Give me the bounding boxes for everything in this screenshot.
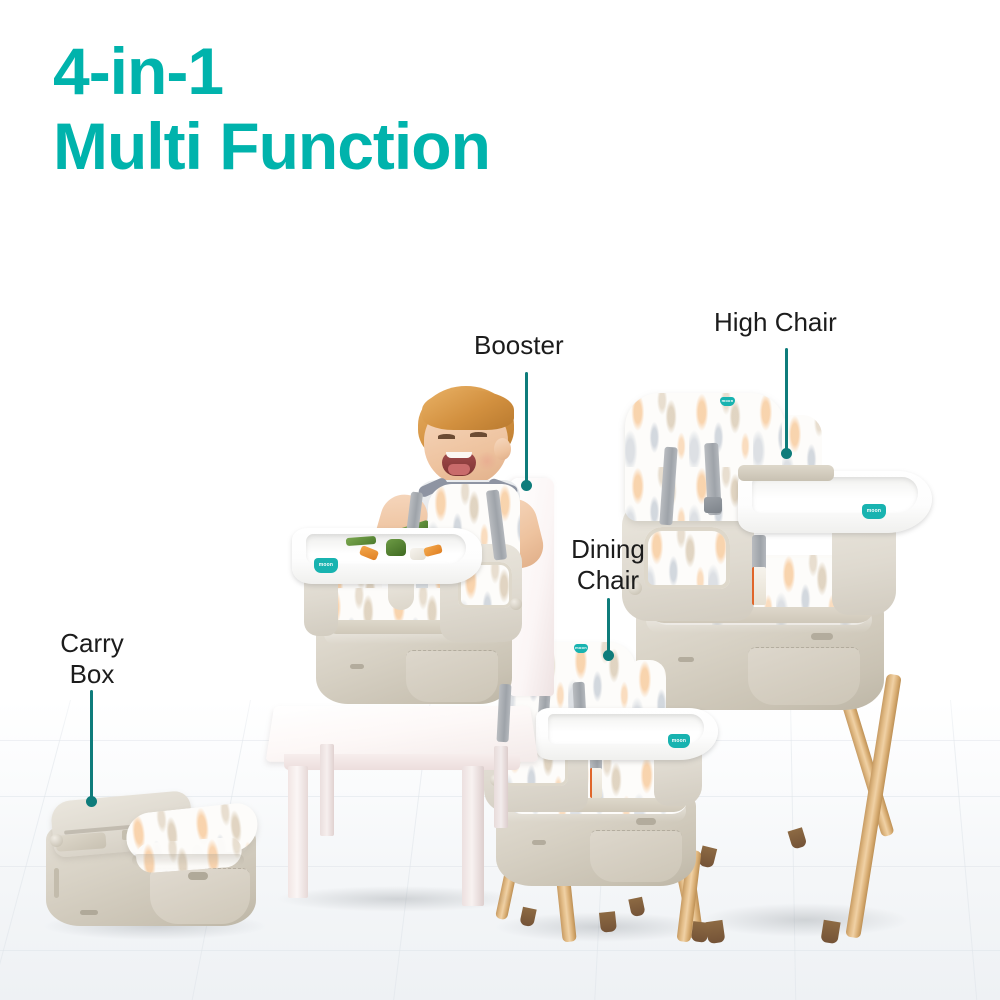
leader-line-booster — [525, 372, 528, 484]
callout-carry-box: Carry Box — [40, 628, 144, 690]
leader-dot-high-chair — [781, 448, 792, 459]
callout-high-chair: High Chair — [714, 307, 837, 338]
carry-box-handle-slot — [188, 872, 208, 880]
callout-dining-chair-line-2: Chair — [552, 565, 664, 596]
carry-box-hinge-knob — [50, 834, 63, 847]
title-line-1: 4-in-1 — [53, 34, 223, 108]
carry-box-vent-slot — [80, 910, 98, 915]
booster-side-pivot-right — [510, 598, 522, 610]
high-chair-tray-well — [752, 477, 918, 513]
dining-chair-base-vent — [636, 818, 656, 825]
baby-teeth — [446, 452, 472, 458]
booster-base-door — [406, 650, 498, 702]
tray-food-broccoli-floret — [386, 539, 406, 556]
baby-hair-fringe — [422, 390, 514, 430]
high-chair-tray-arm — [738, 465, 834, 481]
high-chair-base-vent — [811, 633, 833, 640]
booster-tray-brand-tag: moon — [314, 558, 338, 573]
callout-dining-chair-line-1: Dining — [552, 534, 664, 565]
leader-line-carry-box — [90, 690, 93, 802]
carry-box-side-rib — [54, 868, 59, 898]
table-leg-front-left — [288, 766, 308, 898]
table-leg-rear-left — [320, 744, 334, 836]
dining-chair-leg-tip-front-left — [599, 911, 617, 933]
dining-chair-leg-tip-front-right — [691, 921, 709, 943]
baby-tongue — [448, 464, 470, 475]
leader-dot-booster — [521, 480, 532, 491]
high-chair-floor-shadow — [700, 903, 910, 937]
high-chair-brand-tag: moon — [720, 397, 735, 406]
page-title: 4-in-1 Multi Function — [53, 38, 693, 179]
callout-booster: Booster — [474, 330, 564, 361]
carry-box-cushion-shadow — [132, 854, 244, 866]
dining-chair-tray-brand-tag: moon — [668, 734, 690, 748]
callout-high-chair-label: High Chair — [714, 307, 837, 338]
leader-line-high-chair — [785, 348, 788, 452]
high-chair-tray-brand-tag: moon — [862, 504, 886, 519]
callout-carry-box-line-2: Box — [40, 659, 144, 690]
high-chair-harness-buckle — [704, 497, 722, 513]
callout-booster-label: Booster — [474, 330, 564, 361]
leader-line-dining-chair — [607, 598, 610, 656]
high-chair-leg-tip-front-right — [820, 920, 840, 944]
dining-chair-brand-tag: moon — [574, 644, 588, 653]
callout-carry-box-line-1: Carry — [40, 628, 144, 659]
product-carry-box[interactable] — [40, 790, 280, 940]
leader-dot-carry-box — [86, 796, 97, 807]
high-chair-leg-tip-rear-right — [788, 827, 808, 850]
high-chair-base-door — [748, 647, 860, 705]
table-leg-front-right — [462, 766, 484, 906]
dining-chair-base-door — [590, 830, 682, 882]
title-line-2: Multi Function — [53, 113, 693, 179]
baby-eye-right — [470, 432, 487, 437]
infographic-canvas: 4-in-1 Multi Function — [0, 0, 1000, 1000]
baby-eye-left — [438, 434, 455, 439]
baby-cheek — [476, 452, 498, 470]
dining-chair-warning-label — [590, 768, 602, 798]
product-booster-with-baby[interactable]: moon — [288, 382, 556, 712]
high-chair-warning-label — [752, 567, 766, 605]
table-leg-rear-right — [494, 746, 508, 828]
callout-dining-chair: Dining Chair — [552, 534, 664, 596]
booster-base-slot — [350, 664, 364, 669]
leader-dot-dining-chair — [603, 650, 614, 661]
